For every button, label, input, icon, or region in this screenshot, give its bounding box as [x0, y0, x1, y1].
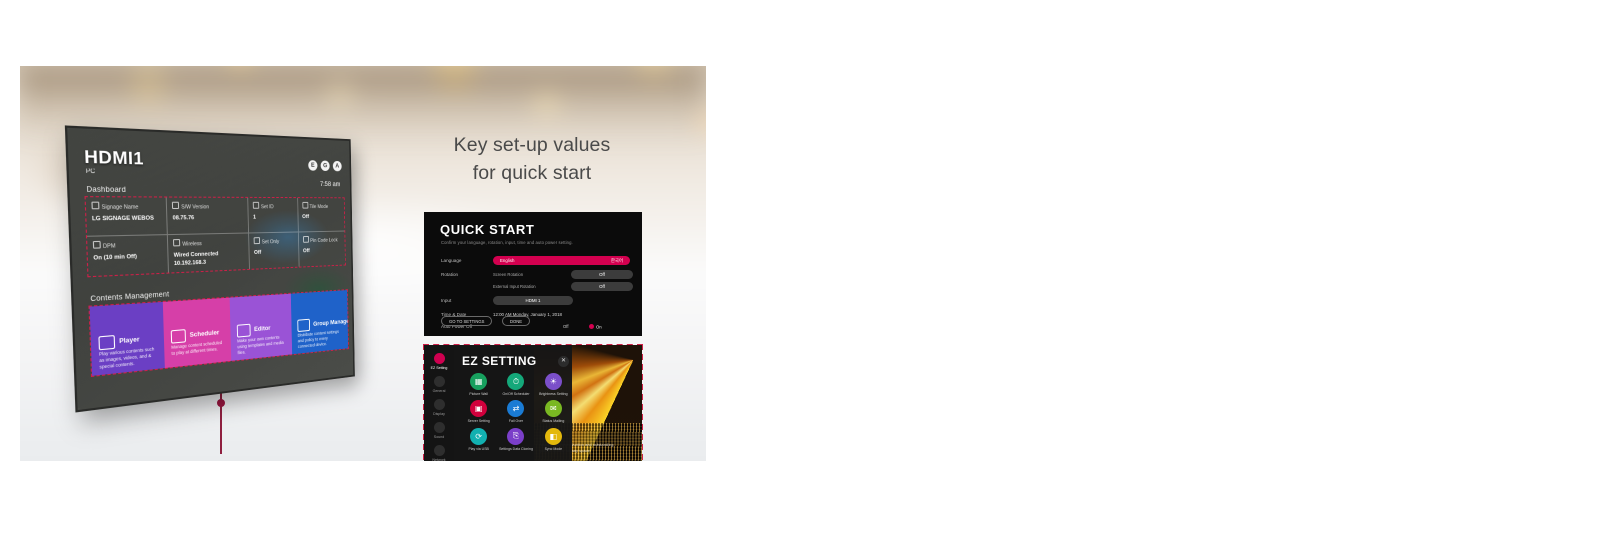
status-icon-3[interactable]: A: [333, 161, 342, 172]
dashboard-section-title: Dashboard: [86, 186, 126, 194]
sidebar-item-general[interactable]: General: [424, 376, 454, 393]
ez-item-label: Play via USB: [460, 447, 497, 451]
tile-scheduler[interactable]: Scheduler Manage content scheduled to pl…: [163, 298, 231, 368]
ez-item-label: Brightness Setting: [535, 392, 572, 396]
dashboard-cell-key: Tile Mode: [302, 202, 340, 211]
tile-label: Group Manager 2.0: [313, 318, 348, 328]
ez-item-status-mailing[interactable]: ✉ Status Mailing: [535, 400, 572, 423]
sidebar-item-label: EZ Setting: [431, 366, 448, 370]
clone-icon: ⎘: [507, 428, 524, 445]
dashboard-cell-key: DPM: [93, 239, 163, 251]
lock-icon: [254, 237, 260, 244]
contents-management-tiles: Player Play various contents such as ima…: [90, 290, 349, 376]
row-external-input-rotation: External Input Rotation Off: [441, 282, 630, 293]
tile-editor[interactable]: Editor Make your own contents using temp…: [230, 294, 293, 361]
ez-item-fail-over[interactable]: ⇄ Fail Over: [497, 400, 534, 423]
sidebar-item-display[interactable]: Display: [424, 399, 454, 416]
dashboard-cell[interactable]: Wireless Wired Connected 10.192.168.3: [168, 233, 250, 272]
ez-item-label: Settings Data Cloning: [497, 447, 534, 451]
pip-icon: [302, 202, 308, 209]
ez-item-label: Fail Over: [497, 419, 534, 423]
tile-label: Scheduler: [190, 330, 220, 340]
dashboard-cell-value: LG SIGNAGE WEBOS: [92, 214, 162, 223]
row-label: Language: [441, 258, 461, 263]
ez-item-settings-data-cloning[interactable]: ⎘ Settings Data Cloning: [497, 428, 534, 451]
sidebar-item-label: Network: [432, 458, 445, 461]
dashboard-grid: Signage Name LG SIGNAGE WEBOS S/W Versio…: [86, 197, 345, 276]
status-icon-1[interactable]: E: [308, 160, 317, 171]
callout-quick-start: Key set-up values for quick start: [432, 131, 632, 187]
go-to-settings-button[interactable]: GO TO SETTINGS: [441, 316, 492, 326]
fail-over-icon: ⇄: [507, 400, 524, 417]
status-icon-group: E G A: [308, 160, 342, 171]
tile-description: Play various contents such as images, vi…: [99, 346, 159, 371]
sidebar-item-network[interactable]: Network: [424, 445, 454, 461]
power-icon: [93, 241, 101, 249]
ez-item-label: On/Off Scheduler: [497, 392, 534, 396]
lg-display-device: HDMI1 PC E G A 7:58 am Dashboard Signage…: [75, 134, 375, 394]
ez-setting-panel: Vivid colour reproduction and outstandin…: [424, 345, 642, 461]
screen-rotation-label: Screen Rotation: [493, 272, 523, 277]
language-alt-value: 한국어: [611, 258, 623, 264]
dashboard-cell[interactable]: Pin Code Lock Off: [298, 231, 345, 266]
row-label: Input: [441, 298, 451, 303]
screen-rotation-value: Off: [599, 272, 605, 277]
mail-icon: ✉: [545, 400, 562, 417]
scheduler-icon: ⏱: [507, 373, 524, 390]
auto-power-off-option-off[interactable]: Off: [563, 324, 569, 329]
usb-icon: ⟳: [470, 428, 487, 445]
chip-icon: [172, 202, 179, 209]
player-icon: [98, 335, 115, 350]
dashboard-cell[interactable]: S/W Version 08.75.76: [167, 198, 249, 236]
row-input: Input HDMI 1: [441, 296, 630, 307]
dashboard-cell-key: S/W Version: [172, 202, 243, 212]
dashboard-cell-value: Wired Connected 10.192.168.3: [174, 249, 245, 268]
dashboard-cell-value: Off: [303, 246, 341, 255]
server-icon: ▣: [470, 400, 487, 417]
screen-rotation-select[interactable]: Off: [571, 270, 633, 279]
sidebar-item-label: Display: [433, 412, 445, 416]
dashboard-cell-value: 08.75.76: [173, 213, 244, 222]
tile-description: Distribute content settings and policy t…: [298, 329, 344, 350]
external-input-rotation-label: External Input Rotation: [493, 284, 536, 289]
picture-wall-icon: ▦: [470, 373, 487, 390]
input-source-label: HDMI1: [84, 146, 144, 169]
monitor-icon: [434, 399, 445, 410]
quick-start-description: Confirm your language, rotation, input, …: [441, 240, 630, 245]
input-source-sublabel: PC: [86, 169, 96, 176]
sidebar-item-sound[interactable]: Sound: [424, 422, 454, 439]
dashboard-cell[interactable]: Set ID 1: [248, 198, 298, 234]
ez-item-label: Sync Mode: [535, 447, 572, 451]
dashboard-cell-key: Pin Code Lock: [303, 235, 341, 245]
done-button[interactable]: DONE: [502, 316, 530, 326]
ez-item-onoff-scheduler[interactable]: ⏱ On/Off Scheduler: [497, 373, 534, 396]
ez-item-label: Status Mailing: [535, 419, 572, 423]
external-input-rotation-select[interactable]: Off: [571, 282, 633, 291]
group-manager-icon: [297, 319, 310, 332]
dashboard-cell[interactable]: Set Only Off: [249, 232, 299, 268]
dashboard-cell-value: Off: [302, 213, 340, 221]
language-value: English: [500, 258, 514, 263]
auto-power-off-option-on[interactable]: On: [589, 324, 602, 330]
dashboard-cell-value: On (10 min Off): [93, 251, 163, 262]
scheduler-icon: [171, 329, 186, 344]
webos-signage-ui: HDMI1 PC E G A 7:58 am Dashboard Signage…: [67, 128, 353, 410]
close-icon[interactable]: ✕: [558, 356, 569, 367]
ez-setting-title: EZ SETTING: [462, 354, 537, 368]
sidebar-item-label: Sound: [434, 435, 444, 439]
ez-item-label: Server Setting: [460, 419, 497, 423]
tile-label: Editor: [254, 325, 270, 333]
ez-sidebar: EZ Setting General Display Sound Network: [424, 345, 454, 461]
ez-item-label: Picture Wall: [460, 392, 497, 396]
sync-icon: ◧: [545, 428, 562, 445]
row-language: Language English 한국어: [441, 256, 630, 267]
brightness-icon: ☀: [545, 373, 562, 390]
quick-start-panel: QUICK START Confirm your language, rotat…: [424, 212, 642, 336]
leader-dot-bottom: [217, 399, 225, 407]
lan-icon: [253, 202, 259, 209]
ez-item-play-via-usb[interactable]: ⟳ Play via USB: [460, 428, 497, 451]
language-select[interactable]: English 한국어: [493, 256, 630, 265]
screenshot-canvas: Display’s Current Status Key set-up valu…: [0, 0, 1600, 540]
dashboard-cell[interactable]: Tile Mode Off: [298, 198, 345, 232]
monitor-icon: [91, 202, 99, 210]
dashboard-cell[interactable]: DPM On (10 min Off): [87, 235, 169, 276]
ez-item-sync-mode[interactable]: ◧ Sync Mode: [535, 428, 572, 451]
sidebar-item-label: General: [433, 389, 446, 393]
dashboard-cell[interactable]: Signage Name LG SIGNAGE WEBOS: [86, 197, 168, 237]
dashboard-cell-key: Set ID: [253, 202, 293, 211]
wifi-icon: [173, 239, 180, 246]
input-select[interactable]: HDMI 1: [493, 296, 573, 305]
editor-icon: [237, 324, 251, 338]
ez-item-picture-wall[interactable]: ▦ Picture Wall: [460, 373, 497, 396]
globe-icon: [434, 445, 445, 456]
tile-label: Player: [119, 336, 140, 345]
ez-item-brightness-setting[interactable]: ☀ Brightness Setting: [535, 373, 572, 396]
ez-icon: [434, 353, 445, 364]
clock: 7:58 am: [320, 181, 341, 188]
ez-setting-grid: ▦ Picture Wall ⏱ On/Off Scheduler ☀ Brig…: [460, 373, 572, 451]
gear-icon: [434, 376, 445, 387]
dashboard-cell-key: Set Only: [254, 236, 294, 246]
dashboard-panel: Signage Name LG SIGNAGE WEBOS S/W Versio…: [86, 197, 345, 276]
row-label: Rotation: [441, 272, 458, 277]
marketing-slide-image: Display’s Current Status Key set-up valu…: [20, 66, 706, 461]
speaker-icon: [434, 422, 445, 433]
status-icon-2[interactable]: G: [321, 160, 330, 171]
dashboard-cell-value: 1: [253, 213, 293, 221]
key-icon: [303, 236, 309, 243]
dashboard-cell-value: Off: [254, 247, 294, 256]
tile-player[interactable]: Player Play various contents such as ima…: [90, 302, 165, 376]
row-screen-rotation: Rotation Screen Rotation Off: [441, 270, 630, 281]
ez-item-server-setting[interactable]: ▣ Server Setting: [460, 400, 497, 423]
tile-group-manager[interactable]: Group Manager 2.0 Distribute content set…: [291, 290, 348, 354]
external-input-rotation-value: Off: [599, 284, 605, 289]
sidebar-item-ez-setting[interactable]: EZ Setting: [424, 353, 454, 370]
tile-description: Make your own contents using templates a…: [237, 334, 287, 356]
input-value: HDMI 1: [526, 298, 541, 303]
dashboard-cell-key: Signage Name: [91, 202, 161, 212]
quick-start-title: QUICK START: [440, 222, 534, 237]
dashboard-cell-key: Wireless: [173, 238, 244, 249]
